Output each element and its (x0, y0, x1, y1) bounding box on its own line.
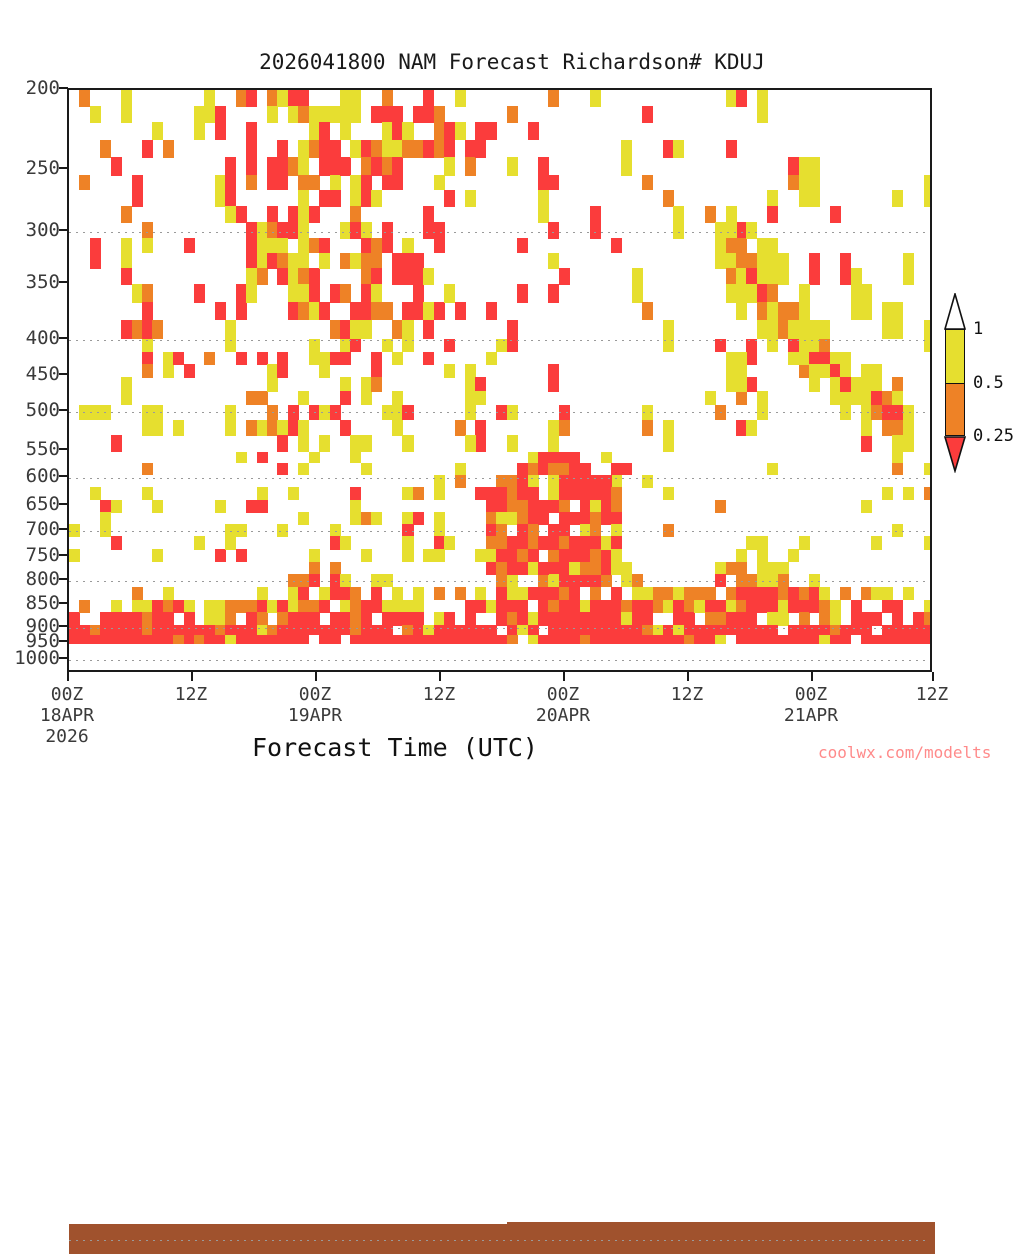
heatmap-cell (111, 536, 122, 550)
heatmap-cell (861, 587, 872, 601)
heatmap-cell (559, 420, 570, 436)
heatmap-cell (257, 391, 268, 405)
heatmap-cell (715, 574, 726, 587)
heatmap-cell (277, 600, 288, 613)
heatmap-cell (528, 487, 539, 500)
heatmap-cell (726, 352, 747, 392)
heatmap-cell (757, 320, 768, 340)
heatmap-cell (611, 562, 622, 575)
heatmap-cell (309, 339, 320, 352)
heatmap-cell (590, 536, 601, 550)
heatmap-cell (601, 612, 612, 625)
heatmap-cell (246, 90, 257, 107)
heatmap-cell (455, 302, 466, 321)
heatmap-cell (684, 600, 695, 613)
heatmap-cell (778, 574, 789, 587)
heatmap-cell (267, 253, 278, 269)
heatmap-cell (340, 600, 351, 613)
heatmap-cell (225, 524, 236, 537)
heatmap-plot-area[interactable] (67, 88, 932, 672)
heatmap-cell (559, 587, 570, 601)
heatmap-cell (371, 352, 382, 379)
heatmap-cell (548, 435, 559, 452)
y-axis-label: 350 (0, 271, 60, 293)
heatmap-cell (392, 253, 403, 285)
heatmap-cell (559, 463, 570, 475)
heatmap-cell (548, 562, 559, 575)
heatmap-cell (507, 536, 518, 550)
heatmap-cell (340, 574, 351, 587)
heatmap-cell (746, 222, 757, 239)
heatmap-cell (746, 268, 757, 284)
heatmap-cell (69, 612, 80, 625)
heatmap-cell (288, 574, 299, 587)
x-axis-tick (687, 672, 689, 681)
heatmap-cell (288, 90, 299, 107)
heatmap-cell (507, 475, 518, 488)
heatmap-cell (924, 320, 930, 352)
heatmap-cell (361, 612, 372, 625)
heatmap-cell (726, 140, 737, 158)
heatmap-cell (861, 391, 872, 405)
x-axis-label-date: 19APR (255, 705, 375, 726)
heatmap-cell (840, 253, 851, 285)
heatmap-cell (100, 500, 111, 513)
heatmap-cell (298, 253, 309, 269)
heatmap-cell (132, 587, 143, 601)
heatmap-cell (475, 600, 486, 613)
heatmap-cell (350, 487, 361, 500)
heatmap-cell (382, 222, 393, 253)
heatmap-cells (69, 90, 930, 670)
heatmap-cell (673, 206, 684, 239)
heatmap-cell (309, 206, 320, 223)
heatmap-cell (548, 452, 559, 464)
heatmap-cell (569, 562, 580, 575)
heatmap-cell (590, 562, 601, 575)
heatmap-cell (507, 405, 518, 421)
heatmap-cell (809, 587, 820, 601)
heatmap-cell (736, 238, 747, 253)
heatmap-cell (621, 612, 632, 625)
heatmap-cell (621, 463, 632, 475)
heatmap-cell (715, 562, 726, 575)
heatmap-cell (486, 600, 497, 613)
heatmap-cell (799, 284, 810, 303)
heatmap-cell (215, 500, 226, 513)
heatmap-cell (788, 587, 799, 601)
heatmap-cell (434, 524, 445, 537)
heatmap-cell (340, 157, 351, 175)
heatmap-cell (819, 600, 830, 613)
heatmap-cell (455, 90, 466, 107)
heatmap-cell (184, 612, 195, 625)
heatmap-cell (538, 190, 549, 223)
heatmap-cell (611, 238, 622, 253)
heatmap-cell (580, 500, 591, 513)
heatmap-cell (580, 549, 591, 562)
heatmap-cell (288, 284, 299, 303)
heatmap-cell (173, 420, 184, 436)
heatmap-cell (319, 587, 330, 601)
heatmap-cell (663, 190, 674, 207)
y-axis-label: 450 (0, 363, 60, 385)
heatmap-cell (298, 140, 309, 176)
heatmap-cell (444, 122, 455, 140)
heatmap-cell (507, 512, 518, 525)
heatmap-cell (528, 536, 539, 550)
heatmap-cell (402, 238, 413, 253)
heatmap-cell (330, 190, 341, 207)
heatmap-cell (882, 405, 893, 421)
heatmap-cell (892, 190, 903, 207)
heatmap-cell (882, 635, 893, 644)
x-axis-label: 00Z20APR (503, 684, 623, 726)
heatmap-cell (726, 284, 737, 303)
x-axis-label-time: 00Z (51, 684, 84, 705)
heatmap-cell (413, 512, 424, 525)
heatmap-cell (288, 600, 299, 613)
heatmap-cell (851, 391, 862, 405)
heatmap-cell (517, 612, 528, 625)
heatmap-cell (548, 175, 559, 190)
heatmap-cell (840, 352, 851, 366)
heatmap-cell (402, 435, 413, 452)
heatmap-cell (267, 157, 278, 190)
heatmap-cell (496, 512, 507, 525)
heatmap-cell (507, 612, 518, 625)
heatmap-cell (809, 635, 820, 644)
heatmap-cell (163, 587, 174, 601)
heatmap-cell (767, 320, 778, 340)
heatmap-cell (371, 284, 382, 303)
heatmap-cell (319, 635, 330, 644)
heatmap-cell (726, 222, 737, 239)
heatmap-cell (423, 320, 434, 340)
heatmap-cell (611, 512, 622, 525)
heatmap-cell (871, 612, 882, 625)
heatmap-cell (413, 284, 424, 320)
heatmap-cell (517, 475, 528, 488)
heatmap-cell (361, 157, 372, 175)
heatmap-cell (361, 268, 372, 284)
heatmap-cell (601, 562, 612, 575)
heatmap-cell (538, 463, 549, 475)
heatmap-cell (267, 222, 278, 239)
heatmap-cell (559, 562, 570, 575)
heatmap-cell (673, 587, 684, 601)
heatmap-cell (309, 175, 320, 190)
heatmap-cell (882, 391, 893, 405)
heatmap-cell (548, 284, 559, 303)
heatmap-cell (830, 364, 841, 378)
heatmap-cell (528, 122, 539, 140)
heatmap-cell (309, 625, 320, 635)
heatmap-cell (924, 175, 930, 207)
heatmap-cell (892, 377, 903, 391)
heatmap-cell (736, 600, 747, 613)
heatmap-cell (309, 238, 320, 253)
y-axis-label: 300 (0, 219, 60, 241)
heatmap-cell (486, 302, 497, 321)
heatmap-cell (444, 536, 455, 550)
heatmap-cell (736, 268, 747, 284)
heatmap-cell (392, 612, 403, 625)
heatmap-cell (715, 339, 726, 352)
x-axis-tick (191, 672, 193, 681)
heatmap-cell (757, 635, 768, 644)
heatmap-cell (715, 238, 726, 253)
heatmap-cell (423, 206, 434, 223)
x-axis-label: 00Z21APR (751, 684, 871, 726)
heatmap-cell (601, 635, 612, 644)
heatmap-cell (392, 106, 403, 123)
heatmap-cell (673, 612, 684, 625)
y-axis-label: 600 (0, 465, 60, 487)
heatmap-cell (350, 339, 361, 352)
heatmap-cell (194, 284, 205, 303)
heatmap-cell (799, 612, 810, 625)
heatmap-cell (746, 574, 757, 587)
heatmap-cell (236, 524, 247, 537)
heatmap-cell (434, 222, 445, 253)
heatmap-cell (580, 612, 591, 625)
heatmap-cell (903, 587, 914, 601)
heatmap-cell (142, 600, 153, 613)
heatmap-cell (611, 487, 622, 500)
heatmap-cell (830, 206, 841, 223)
heatmap-cell (465, 405, 476, 421)
heatmap-cell (757, 391, 768, 420)
terrain-segment (69, 1224, 508, 1254)
heatmap-cell (319, 106, 330, 123)
heatmap-cell (382, 339, 393, 352)
heatmap-cell (90, 405, 101, 421)
heatmap-cell (757, 284, 768, 303)
heatmap-cell (173, 600, 184, 613)
heatmap-cell (475, 420, 486, 452)
heatmap-cell (371, 574, 382, 587)
heatmap-cell (142, 487, 153, 500)
heatmap-cell (277, 420, 288, 436)
heatmap-cell (246, 175, 257, 190)
heatmap-cell (882, 587, 893, 601)
heatmap-cell (517, 587, 528, 601)
heatmap-cell (277, 612, 288, 625)
heatmap-cell (465, 391, 476, 405)
heatmap-cell (371, 377, 382, 391)
heatmap-cell (757, 302, 768, 321)
heatmap-cell (757, 90, 768, 123)
heatmap-cell (257, 238, 268, 253)
heatmap-cell (632, 612, 643, 625)
heatmap-cell (423, 302, 434, 321)
heatmap-cell (277, 352, 288, 379)
heatmap-cell (361, 320, 372, 340)
heatmap-cell (111, 600, 122, 613)
heatmap-cell (642, 106, 653, 123)
heatmap-cell (319, 600, 330, 613)
heatmap-cell (215, 635, 226, 644)
heatmap-cell (371, 157, 382, 175)
y-axis-label: 500 (0, 399, 60, 421)
heatmap-cell (726, 562, 737, 575)
heatmap-cell (809, 339, 820, 352)
heatmap-cell (152, 600, 163, 613)
heatmap-cell (736, 90, 747, 107)
heatmap-cell (517, 524, 528, 537)
heatmap-cell (465, 140, 476, 158)
heatmap-cell (528, 612, 539, 625)
heatmap-cell (455, 463, 466, 475)
heatmap-cell (298, 90, 309, 107)
heatmap-cell (225, 405, 236, 436)
heatmap-cell (694, 600, 705, 613)
heatmap-cell (309, 352, 320, 366)
heatmap-cell (590, 587, 601, 601)
heatmap-cell (361, 222, 372, 239)
heatmap-cell (507, 587, 518, 601)
heatmap-cell (371, 238, 382, 253)
heatmap-cell (778, 587, 789, 601)
heatmap-cell (402, 612, 413, 625)
heatmap-cell (361, 549, 372, 562)
heatmap-cell (330, 562, 341, 575)
heatmap-cell (642, 175, 653, 190)
heatmap-cell (538, 536, 549, 550)
heatmap-cell (496, 562, 507, 575)
heatmap-cell (204, 612, 215, 625)
heatmap-cell (340, 587, 351, 601)
heatmap-cell (173, 635, 184, 644)
heatmap-cell (903, 487, 914, 500)
heatmap-cell (736, 420, 747, 436)
heatmap-cell (382, 600, 393, 613)
y-axis-label: 250 (0, 157, 60, 179)
heatmap-cell (121, 90, 132, 123)
heatmap-cell (548, 549, 559, 562)
heatmap-cell (767, 612, 778, 625)
heatmap-cell (861, 635, 872, 644)
heatmap-cell (298, 106, 309, 123)
heatmap-cell (507, 635, 518, 644)
heatmap-cell (382, 175, 393, 190)
heatmap-cell (350, 253, 361, 269)
heatmap-cell (371, 190, 382, 207)
x-axis-tick (811, 672, 813, 681)
heatmap-cell (621, 600, 632, 613)
x-axis-title: Forecast Time (UTC) (0, 733, 790, 762)
heatmap-cell (809, 377, 820, 391)
heatmap-cell (830, 600, 841, 613)
heatmap-cell (361, 140, 372, 158)
heatmap-cell (548, 500, 559, 513)
heatmap-cell (590, 500, 601, 513)
heatmap-cell (528, 549, 539, 562)
heatmap-cell (455, 587, 466, 601)
heatmap-cell (548, 536, 559, 550)
heatmap-cell (225, 320, 236, 352)
heatmap-cell (642, 587, 653, 601)
x-axis-label-date: 21APR (751, 705, 871, 726)
heatmap-cell (621, 140, 632, 176)
heatmap-cell (871, 377, 882, 391)
heatmap-cell (475, 635, 486, 644)
heatmap-cell (100, 512, 111, 525)
heatmap-cell (538, 562, 549, 575)
heatmap-cell (778, 612, 789, 625)
heatmap-cell (507, 500, 518, 513)
heatmap-cell (350, 635, 361, 644)
heatmap-cell (632, 635, 643, 644)
heatmap-cell (496, 536, 507, 550)
heatmap-cell (434, 612, 445, 625)
heatmap-cell (361, 284, 372, 303)
heatmap-cell (726, 90, 737, 107)
heatmap-cell (434, 302, 445, 321)
heatmap-cell (799, 320, 810, 340)
heatmap-cell (340, 90, 351, 107)
heatmap-cell (559, 536, 570, 550)
heatmap-cell (830, 377, 841, 391)
heatmap-cell (371, 600, 382, 613)
heatmap-cell (486, 352, 497, 366)
heatmap-cell (371, 140, 382, 158)
heatmap-cell (632, 574, 643, 587)
heatmap-cell (434, 475, 445, 488)
heatmap-cell (392, 352, 403, 366)
heatmap-cell (517, 463, 528, 475)
heatmap-cell (538, 500, 549, 513)
heatmap-cell (705, 587, 716, 601)
y-axis-label: 650 (0, 493, 60, 515)
heatmap-cell (548, 253, 559, 269)
heatmap-cell (350, 600, 361, 613)
heatmap-cell (517, 238, 528, 253)
heatmap-cell (434, 587, 445, 601)
heatmap-cell (559, 512, 570, 525)
heatmap-cell (455, 635, 466, 644)
heatmap-cell (580, 536, 591, 550)
heatmap-cell (799, 587, 810, 601)
heatmap-cell (913, 635, 924, 644)
heatmap-cell (611, 463, 622, 475)
heatmap-cell (382, 90, 393, 107)
heatmap-cell (819, 587, 830, 601)
heatmap-cell (382, 157, 393, 175)
heatmap-cell (330, 284, 341, 303)
x-axis-label-time: 00Z (547, 684, 580, 705)
heatmap-cell (903, 420, 914, 436)
heatmap-cell (361, 435, 372, 452)
heatmap-cell (100, 612, 111, 625)
heatmap-cell (423, 352, 434, 366)
heatmap-cell (548, 524, 559, 537)
heatmap-cell (402, 268, 413, 284)
heatmap-cell (892, 635, 903, 644)
heatmap-cell (580, 562, 591, 575)
heatmap-cell (277, 140, 288, 176)
heatmap-cell (871, 364, 882, 378)
heatmap-cell (350, 222, 361, 239)
heatmap-cell (319, 190, 330, 207)
heatmap-cell (340, 253, 351, 269)
heatmap-cell (121, 268, 132, 284)
heatmap-cell (277, 635, 288, 644)
heatmap-cell (257, 222, 268, 239)
heatmap-cell (757, 587, 768, 601)
heatmap-cell (236, 600, 247, 613)
